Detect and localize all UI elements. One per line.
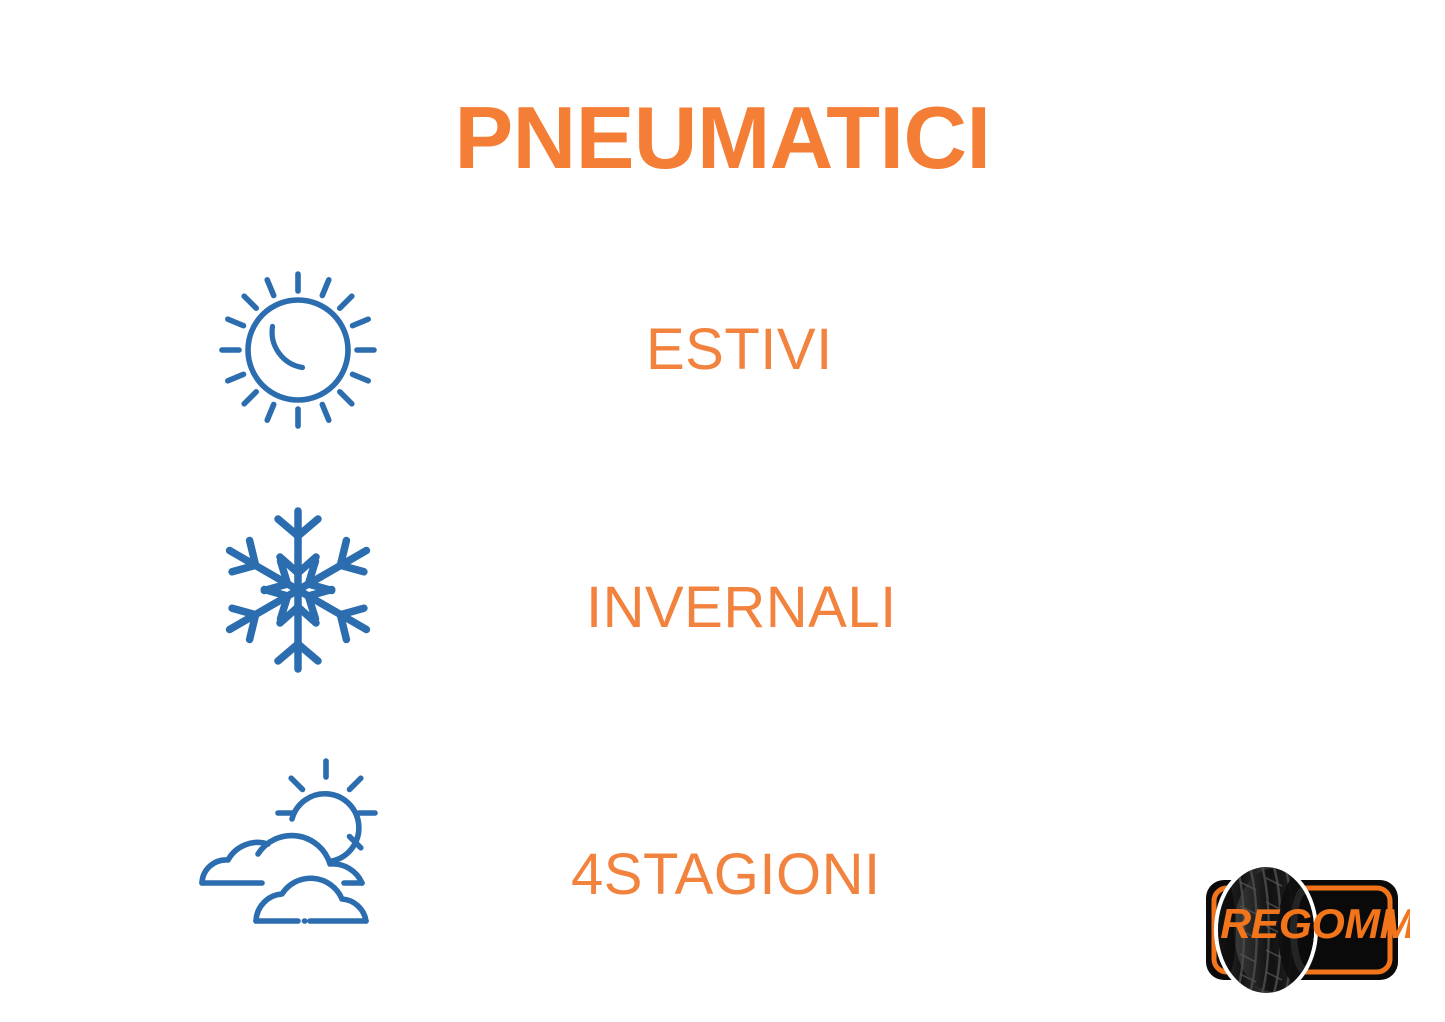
regomma-logo[interactable]: REGOMMA xyxy=(1196,862,1410,998)
category-label-4stagioni: 4STAGIONI xyxy=(571,775,881,975)
category-label-estivi: ESTIVI xyxy=(646,250,833,450)
category-row-estivi: ESTIVI xyxy=(0,250,1445,460)
sun-icon xyxy=(188,250,408,450)
category-label-invernali: INVERNALI xyxy=(586,508,897,708)
poster-canvas: PNEUMATICI xyxy=(0,0,1445,1022)
category-row-invernali: INVERNALI xyxy=(0,490,1445,700)
snowflake-icon xyxy=(188,490,408,690)
page-title: PNEUMATICI xyxy=(0,94,1445,182)
sun-behind-clouds-icon xyxy=(188,745,408,945)
logo-brand-text: REGOMMA xyxy=(1220,900,1410,947)
